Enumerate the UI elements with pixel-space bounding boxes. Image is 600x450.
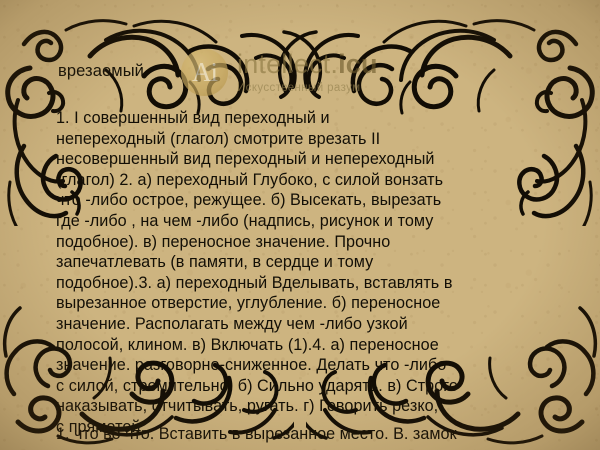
definition-line: где -либо , на чем -либо (надпись, рисун… <box>56 211 580 232</box>
definition-line: подобное).3. а) переходный Вделывать, вс… <box>56 273 580 294</box>
watermark-text: intellect.icu Искусственный разум <box>237 51 378 95</box>
definition-line: подобное). в) переносное значение. Прочн… <box>56 232 580 253</box>
watermark-title: intellect.icu <box>237 51 378 78</box>
definition-line: несовершенный вид переходный и непереход… <box>56 149 580 170</box>
definition-line: запечатлевать (в памяти, в сердце и тому <box>56 252 580 273</box>
page-title: врезаемый <box>58 62 144 81</box>
definition-line: 1. I совершенный вид переходный и <box>56 108 580 129</box>
definition-line: что -либо острое, режущее. б) Высекать, … <box>56 190 580 211</box>
parchment-slide: Ai intellect.icu Искусственный разум вре… <box>0 0 600 450</box>
definition-line: с силой, стремительно. б) Сильно ударять… <box>56 376 580 397</box>
watermark-subtitle: Искусственный разум <box>237 83 378 95</box>
watermark-title-bold: icu <box>338 49 378 79</box>
definition-line: полосой, клином. в) Включать (1).4. а) п… <box>56 335 580 356</box>
definition-line: значение. Располагать между чем -либо уз… <box>56 314 580 335</box>
ai-circle-logo-icon: Ai <box>181 49 228 96</box>
definition-text: 1. I совершенный вид переходный и непере… <box>56 108 580 438</box>
watermark-badge-label: Ai <box>192 57 217 88</box>
watermark-title-light: intellect. <box>237 49 338 79</box>
overflow-definition-line: 1. что во что. Вставить в вырезанное мес… <box>56 424 586 445</box>
definition-line: вырезанное отверстие, углубление. б) пер… <box>56 293 580 314</box>
watermark: Ai intellect.icu Искусственный разум <box>181 49 378 96</box>
definition-line: наказывать, отчитывать, ругать. г) Говор… <box>56 396 580 417</box>
definition-line: значение. разговорно-сниженное. Делать ч… <box>56 355 580 376</box>
definition-line: (глагол) 2. а) переходный Глубоко, с сил… <box>56 170 580 191</box>
definition-line: непереходный (глагол) смотрите врезать I… <box>56 129 580 150</box>
